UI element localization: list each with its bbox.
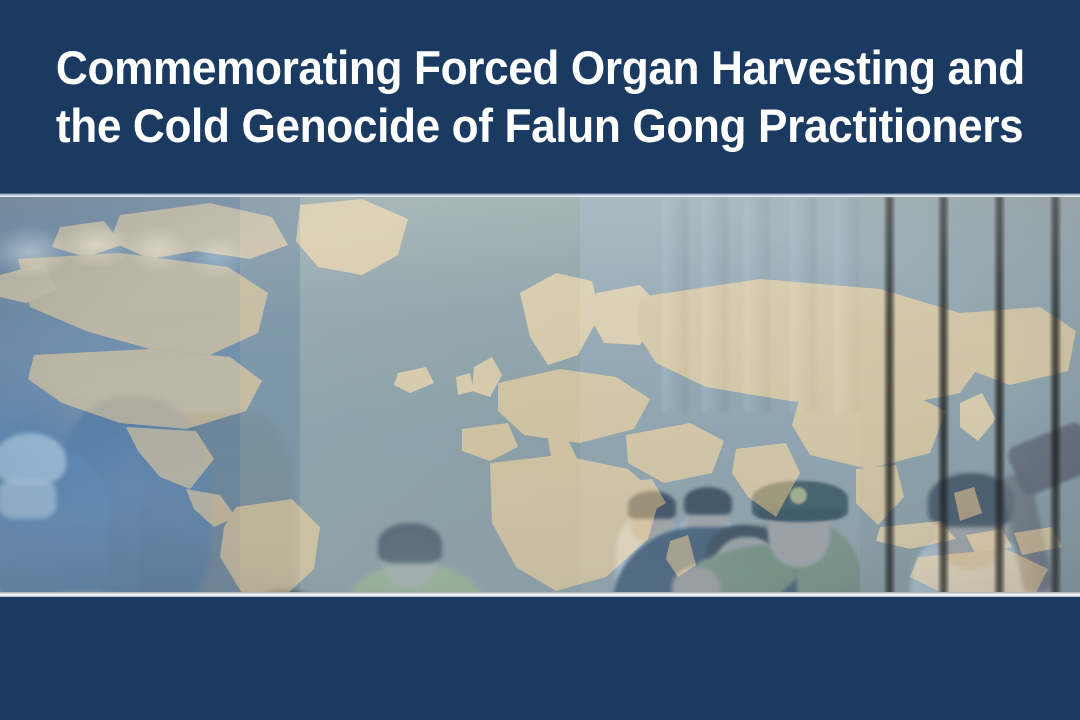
photo-vignette bbox=[0, 197, 1080, 593]
hero-photo-montage bbox=[0, 197, 1080, 593]
poster-title-line-2: the Cold Genocide of Falun Gong Practiti… bbox=[56, 97, 1023, 155]
poster-header: Commemorating Forced Organ Harvesting an… bbox=[0, 0, 1080, 194]
poster-footer: Online Seminars | December 9th & 10th, 2… bbox=[0, 597, 1080, 720]
poster-title-line-1: Commemorating Forced Organ Harvesting an… bbox=[56, 39, 1025, 97]
event-poster: Commemorating Forced Organ Harvesting an… bbox=[0, 0, 1080, 720]
